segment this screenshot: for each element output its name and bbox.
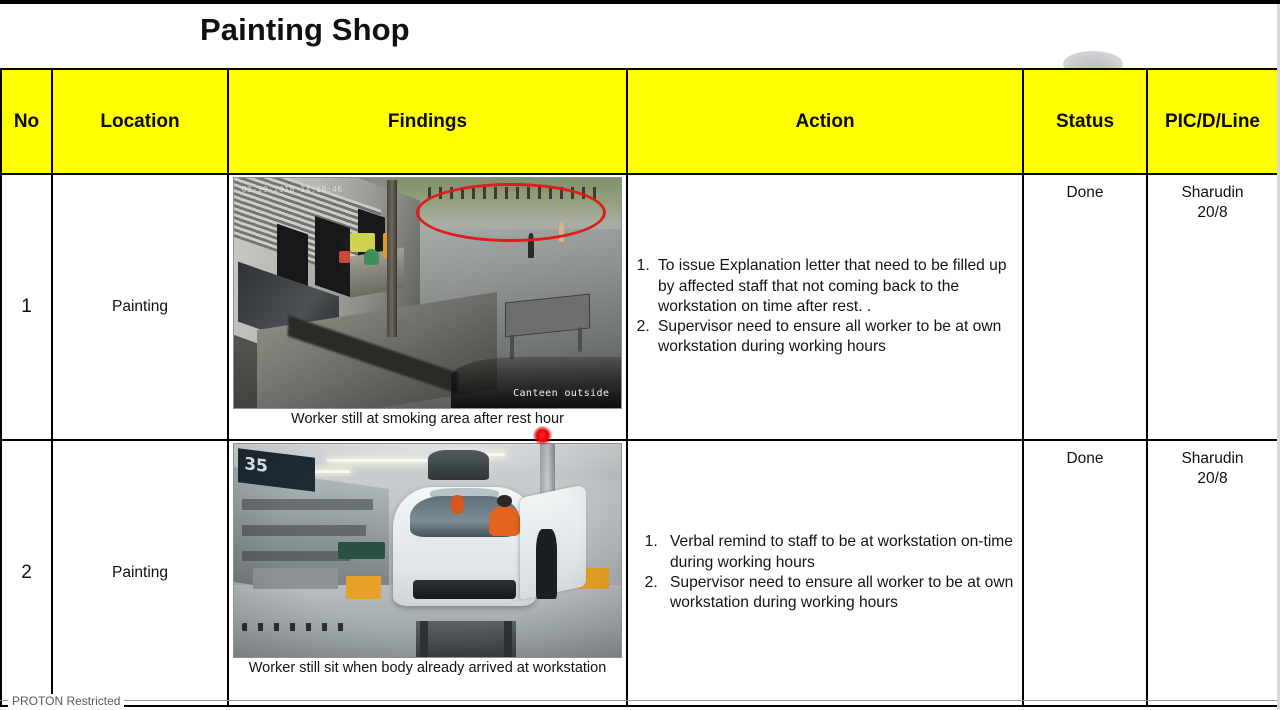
slide-footer: PROTON Restricted <box>0 692 1277 710</box>
table-row: 1 Painting <box>1 174 1278 440</box>
action-item: Verbal remind to staff to be at workstat… <box>662 532 1022 573</box>
pic-name: Sharudin <box>1148 449 1277 469</box>
pic-date: 20/8 <box>1148 203 1277 223</box>
action-list: To issue Explanation letter that need to… <box>628 256 1022 357</box>
action-item: To issue Explanation letter that need to… <box>654 256 1022 317</box>
column-header-pic: PIC/D/Line <box>1147 69 1278 174</box>
footer-classification-label: PROTON Restricted <box>8 694 124 708</box>
cell-pic: Sharudin 20/8 <box>1147 440 1278 706</box>
cell-pic: Sharudin 20/8 <box>1147 174 1278 440</box>
finding-caption: Worker still sit when body already arriv… <box>249 660 607 677</box>
footer-rule <box>0 700 1277 701</box>
pic-name: Sharudin <box>1148 183 1277 203</box>
action-list: Verbal remind to staff to be at workstat… <box>628 532 1022 613</box>
cell-findings: Worker still sit when body already arriv… <box>228 440 627 706</box>
cctv-timestamp-overlay: 08-29-2018 14:10:46 <box>242 185 343 194</box>
column-header-no: No <box>1 69 52 174</box>
cell-action: To issue Explanation letter that need to… <box>627 174 1023 440</box>
cctv-canteen-photo: 08-29-2018 14:10:46 Canteen outside <box>233 177 622 409</box>
cell-findings: 08-29-2018 14:10:46 Canteen outside Work… <box>228 174 627 440</box>
table-row: 2 Painting <box>1 440 1278 706</box>
audit-findings-table: No Location Findings Action Status PIC/D… <box>0 68 1279 707</box>
column-header-action: Action <box>627 69 1023 174</box>
cctv-camera-label: Canteen outside <box>513 388 609 399</box>
cell-no: 2 <box>1 440 52 706</box>
pic-date: 20/8 <box>1148 469 1277 489</box>
top-black-bar <box>0 0 1280 4</box>
action-item: Supervisor need to ensure all worker to … <box>654 317 1022 358</box>
column-header-location: Location <box>52 69 228 174</box>
finding-caption: Worker still at smoking area after rest … <box>291 411 564 428</box>
cell-status: Done <box>1023 440 1147 706</box>
page-title: Painting Shop <box>200 12 410 48</box>
cell-location: Painting <box>52 174 228 440</box>
cell-location: Painting <box>52 440 228 706</box>
cell-status: Done <box>1023 174 1147 440</box>
slide-canvas: Painting Shop No Location Findings Actio… <box>0 4 1277 710</box>
cell-no: 1 <box>1 174 52 440</box>
red-ellipse-annotation <box>416 183 606 243</box>
table-header-row: No Location Findings Action Status PIC/D… <box>1 69 1278 174</box>
factory-assembly-photo <box>233 443 622 658</box>
column-header-status: Status <box>1023 69 1147 174</box>
action-item: Supervisor need to ensure all worker to … <box>662 573 1022 614</box>
cell-action: Verbal remind to staff to be at workstat… <box>627 440 1023 706</box>
column-header-findings: Findings <box>228 69 627 174</box>
